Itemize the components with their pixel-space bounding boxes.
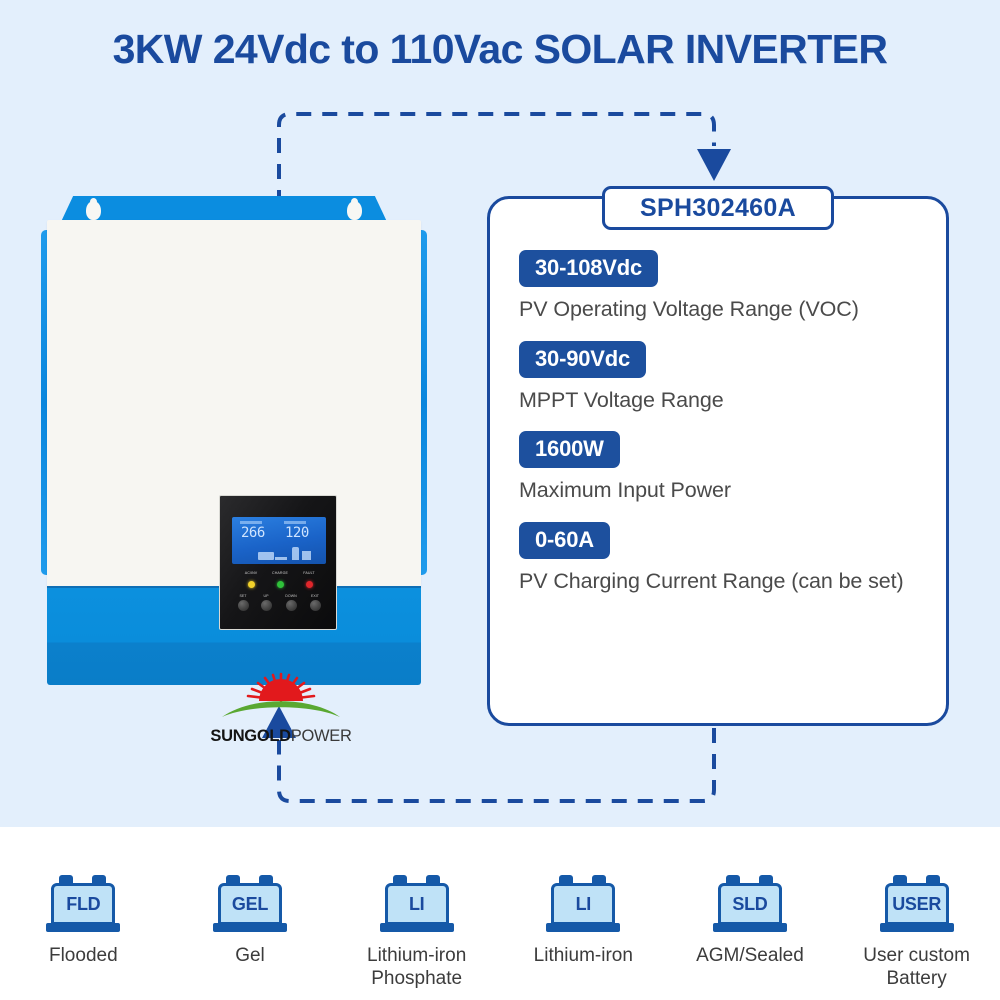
battery-icon: GEL	[213, 875, 287, 937]
battery-body: SLD	[718, 883, 782, 925]
spec-value-pv-voltage: 30-108Vdc	[519, 250, 658, 287]
led-ac-inv: AC/INV	[236, 571, 266, 593]
battery-type-lifepo4: LI Lithium-iron Phosphate	[337, 875, 497, 991]
model-number-badge: SPH302460A	[602, 186, 834, 230]
battery-label: Lithium-iron Phosphate	[337, 945, 497, 991]
battery-base	[713, 923, 787, 932]
battery-code: LI	[576, 894, 591, 915]
brand-name-primary: SUNGOLD	[210, 727, 290, 745]
lcd-signal-bars-icon	[302, 551, 311, 560]
sunrise-logo-icon	[206, 670, 356, 722]
spec-description-max-input-power: Maximum Input Power	[519, 477, 939, 505]
led-fault-indicator	[306, 581, 313, 588]
battery-base	[880, 923, 954, 932]
battery-icon: LI	[380, 875, 454, 937]
spec-value-charging-current: 0-60A	[519, 522, 610, 559]
button-set-cap[interactable]	[238, 600, 249, 611]
lcd-tick-left	[240, 521, 262, 524]
spec-description-mppt-voltage: MPPT Voltage Range	[519, 387, 939, 415]
spec-row-charging-current: 0-60A PV Charging Current Range (can be …	[519, 522, 939, 596]
control-panel: 266 120 AC/INV CHARGE FAULT	[219, 495, 337, 630]
battery-icon: FLD	[46, 875, 120, 937]
battery-code: FLD	[66, 894, 100, 915]
battery-label: Flooded	[3, 945, 163, 968]
battery-body: USER	[885, 883, 949, 925]
lcd-display: 266 120	[232, 517, 326, 564]
brand-logo: SUNGOLDPOWER	[206, 670, 356, 746]
spec-row-pv-voltage: 30-108Vdc PV Operating Voltage Range (VO…	[519, 250, 939, 324]
battery-base	[46, 923, 120, 932]
battery-label: AGM/Sealed	[670, 945, 830, 968]
led-ac-inv-indicator	[248, 581, 255, 588]
button-exit-cap[interactable]	[310, 600, 321, 611]
button-down-label: DOWN	[279, 594, 303, 598]
battery-body: GEL	[218, 883, 282, 925]
spec-value-max-input-power: 1600W	[519, 431, 620, 468]
battery-label: User custom Battery	[837, 945, 997, 991]
battery-label: Gel	[170, 945, 330, 968]
keyhole-slot-left	[86, 201, 101, 220]
battery-type-user-custom: USER User custom Battery	[837, 875, 997, 991]
infographic-root: 3KW 24Vdc to 110Vac SOLAR INVERTER 266 1…	[0, 0, 1000, 1000]
battery-type-lithium-iron: LI Lithium-iron	[503, 875, 663, 968]
led-fault: FAULT	[294, 571, 324, 593]
battery-label: Lithium-iron	[503, 945, 663, 968]
led-charge-indicator	[277, 581, 284, 588]
lcd-value-right: 120	[285, 525, 309, 541]
inverter-product-image: 266 120 AC/INV CHARGE FAULT	[38, 196, 430, 690]
battery-icon: LI	[546, 875, 620, 937]
button-up-cap[interactable]	[261, 600, 272, 611]
led-ac-inv-label: AC/INV	[236, 571, 266, 575]
lcd-solar-panel-icon	[258, 552, 274, 560]
keyhole-slot-right	[347, 201, 362, 220]
led-charge: CHARGE	[265, 571, 295, 593]
led-charge-label: CHARGE	[265, 571, 295, 575]
button-set-label: SET	[231, 594, 255, 598]
led-fault-label: FAULT	[294, 571, 324, 575]
battery-body: FLD	[51, 883, 115, 925]
button-exit-label: EXIT	[303, 594, 327, 598]
button-up-label: UP	[254, 594, 278, 598]
button-down-cap[interactable]	[286, 600, 297, 611]
lcd-tick-right	[284, 521, 306, 524]
battery-base	[546, 923, 620, 932]
battery-type-flooded: FLD Flooded	[3, 875, 163, 968]
battery-body: LI	[551, 883, 615, 925]
spec-row-mppt-voltage: 30-90Vdc MPPT Voltage Range	[519, 341, 939, 415]
spec-description-charging-current: PV Charging Current Range (can be set)	[519, 568, 939, 596]
battery-type-gel: GEL Gel	[170, 875, 330, 968]
battery-icon: SLD	[713, 875, 787, 937]
battery-base	[380, 923, 454, 932]
button-exit[interactable]: EXIT	[303, 594, 327, 616]
battery-type-agm-sealed: SLD AGM/Sealed	[670, 875, 830, 968]
battery-body: LI	[385, 883, 449, 925]
control-button-row: SET UP DOWN EXIT	[229, 594, 329, 616]
battery-code: USER	[892, 894, 941, 915]
button-up[interactable]: UP	[254, 594, 278, 616]
battery-type-strip: FLD Flooded GEL Gel LI	[0, 827, 1000, 1000]
battery-code: SLD	[732, 894, 767, 915]
lcd-outlet-icon	[292, 547, 299, 560]
battery-code: GEL	[232, 894, 268, 915]
status-led-row: AC/INV CHARGE FAULT	[232, 571, 326, 589]
battery-base	[213, 923, 287, 932]
battery-icon: USER	[880, 875, 954, 937]
brand-wordmark: SUNGOLDPOWER	[206, 727, 356, 746]
spec-row-max-input-power: 1600W Maximum Input Power	[519, 431, 939, 505]
spec-list: 30-108Vdc PV Operating Voltage Range (VO…	[519, 250, 939, 612]
battery-code: LI	[409, 894, 424, 915]
lcd-flow-arrow-icon	[275, 557, 287, 560]
button-down[interactable]: DOWN	[279, 594, 303, 616]
spec-value-mppt-voltage: 30-90Vdc	[519, 341, 646, 378]
button-set[interactable]: SET	[231, 594, 255, 616]
brand-name-secondary: POWER	[291, 727, 352, 745]
spec-description-pv-voltage: PV Operating Voltage Range (VOC)	[519, 296, 939, 324]
lcd-value-left: 266	[241, 525, 265, 541]
